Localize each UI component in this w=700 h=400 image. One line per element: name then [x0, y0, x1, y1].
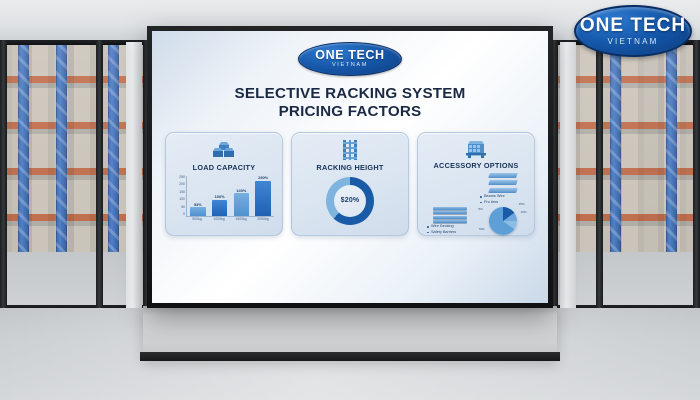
window-mullion: [596, 40, 603, 312]
pallet-rack-icon: [463, 139, 489, 159]
logo-name: ONE TECH: [315, 49, 384, 62]
x-tick: 500kg: [189, 218, 205, 222]
pie-slice-label: 5%: [479, 208, 483, 211]
corner-logo-name: ONE TECH: [580, 16, 686, 35]
beam-graphic: [488, 188, 518, 193]
card-heading: ACCESSORY OPTIONS: [434, 161, 519, 170]
bar-chart-y-axis: 250 200 150 100 50 0: [171, 176, 185, 217]
bar[interactable]: [234, 193, 250, 215]
bar-group: 53%: [190, 176, 206, 216]
logo-subtitle: VIETNAM: [332, 63, 368, 69]
bar[interactable]: [255, 181, 271, 216]
window-mullion: [0, 40, 7, 312]
pricing-factor-cards: LOAD CAPACITY 250 200 150 100 50 0: [162, 132, 538, 236]
card-heading: RACKING HEIGHT: [316, 163, 383, 172]
x-tick: 2000kg: [255, 218, 271, 222]
corner-logo: ONE TECH VIETNAM: [574, 5, 692, 57]
credenza-base: [140, 352, 560, 361]
beam-graphic: [488, 173, 518, 178]
scene: ONE TECH VIETNAM SELECTIVE RACKING SYSTE…: [0, 0, 700, 400]
accessory-left-column: Wire Decking Safety Barriers: [424, 172, 475, 236]
wire-decking-graphic: [433, 216, 467, 223]
card-racking-height[interactable]: RACKING HEIGHT $20%: [291, 132, 409, 236]
logo-oval: ONE TECH VIETNAM: [298, 42, 402, 76]
slide-logo: ONE TECH VIETNAM: [162, 42, 538, 76]
accessory-right-column: Beams Wire Pro tiers 15% 10% 5% 70%: [477, 172, 528, 236]
rack-frame-icon: [340, 139, 360, 161]
donut[interactable]: $20%: [326, 177, 374, 225]
card-accessory-options[interactable]: ACCESSORY OPTIONS Wire Decking Safety Ba…: [417, 132, 535, 236]
y-tick: 150: [179, 191, 185, 195]
corner-logo-subtitle: VIETNAM: [608, 38, 659, 46]
window-mullion: [96, 40, 103, 312]
pie[interactable]: 15% 10% 5% 70%: [489, 207, 517, 235]
card-heading: LOAD CAPACITY: [193, 163, 256, 172]
bar-group: 100%: [212, 176, 228, 216]
x-tick: 1000kg: [211, 218, 227, 222]
list-item: Safety Barriers: [427, 230, 475, 236]
stacked-boxes-icon: [212, 139, 236, 161]
bar-value-label: 53%: [194, 203, 202, 207]
wire-decking-graphic: [433, 207, 467, 214]
wall-pillar: [126, 42, 142, 342]
y-tick: 200: [179, 183, 185, 187]
slide-title-line2: PRICING FACTORS: [162, 103, 538, 121]
y-tick: 250: [179, 176, 185, 180]
accessory-body: Wire Decking Safety Barriers Beams Wire …: [423, 170, 529, 236]
racking-height-donut-chart: $20%: [326, 172, 374, 230]
x-tick: 1500kg: [233, 218, 249, 222]
credenza: [143, 306, 557, 358]
bar-group: 230%: [255, 176, 271, 216]
beam-graphic: [488, 180, 518, 185]
y-tick: 0: [183, 213, 185, 217]
card-load-capacity[interactable]: LOAD CAPACITY 250 200 150 100 50 0: [165, 132, 283, 236]
bar-value-label: 100%: [215, 195, 225, 199]
y-tick: 100: [179, 198, 185, 202]
display-bezel: ONE TECH VIETNAM SELECTIVE RACKING SYSTE…: [147, 26, 553, 308]
slide-title-line1: SELECTIVE RACKING SYSTEM: [235, 85, 466, 102]
bar[interactable]: [212, 200, 228, 216]
bar[interactable]: [190, 207, 206, 215]
presentation-slide: ONE TECH VIETNAM SELECTIVE RACKING SYSTE…: [152, 31, 548, 303]
wall-pillar: [560, 42, 576, 342]
bar-value-label: 230%: [258, 176, 268, 180]
slide-title: SELECTIVE RACKING SYSTEM PRICING FACTORS: [162, 85, 538, 121]
bar-chart-x-axis: 500kg 1000kg 1500kg 2000kg: [186, 218, 274, 230]
donut-center-label: $20%: [341, 197, 360, 204]
pie-slice-label: 10%: [520, 211, 526, 214]
pie-slice-label: 70%: [479, 228, 485, 231]
donut-hole: $20%: [334, 185, 366, 217]
bar-chart-plot: 53% 100% 140%: [186, 176, 274, 217]
window-mullion: [693, 40, 700, 312]
pie-slice-label: 15%: [518, 203, 524, 206]
accessory-pie-chart: 15% 10% 5% 70%: [489, 207, 517, 235]
display-screen[interactable]: ONE TECH VIETNAM SELECTIVE RACKING SYSTE…: [152, 31, 548, 303]
bar-group: 140%: [234, 176, 250, 216]
load-capacity-bar-chart: 250 200 150 100 50 0 53%: [171, 176, 277, 230]
y-tick: 50: [181, 206, 185, 210]
bar-value-label: 140%: [236, 189, 246, 193]
accessory-left-bullets: Wire Decking Safety Barriers: [424, 224, 475, 235]
